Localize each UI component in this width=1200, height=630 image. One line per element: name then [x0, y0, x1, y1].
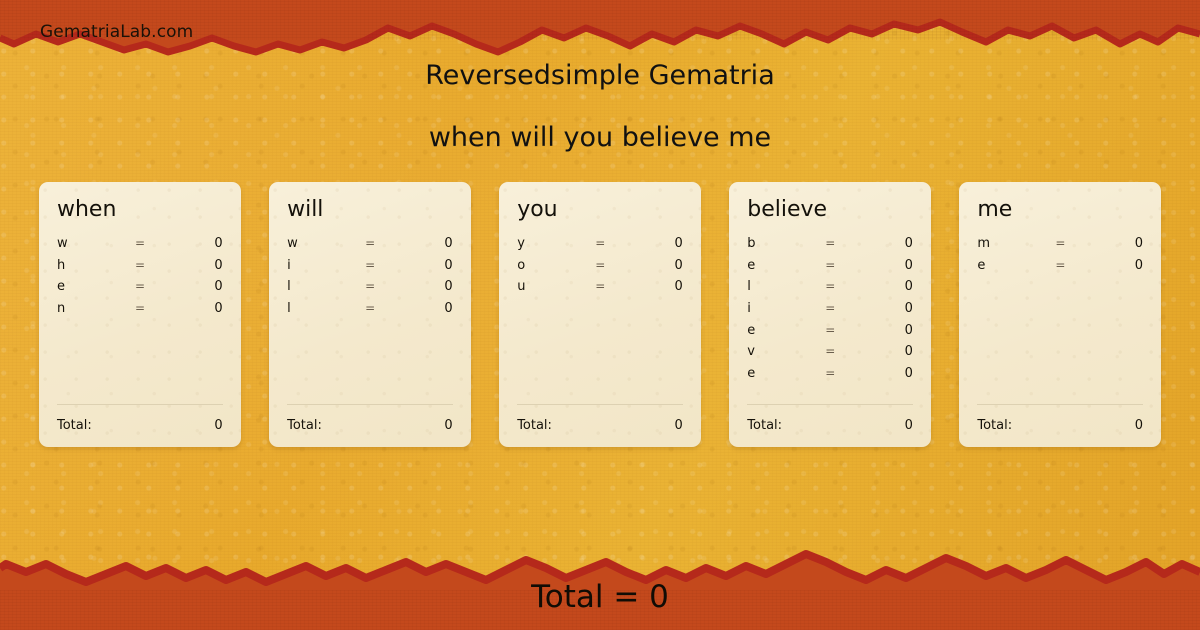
- equals-sign: =: [135, 301, 171, 315]
- letter-row: l=0: [747, 279, 913, 301]
- equals-sign: =: [825, 258, 861, 272]
- equals-sign: =: [365, 258, 401, 272]
- letter-row: u=0: [517, 279, 683, 301]
- card-total-row: Total:0: [57, 405, 223, 433]
- equals-sign: =: [595, 258, 631, 272]
- word-card: whenw=0h=0e=0n=0Total:0: [39, 182, 241, 447]
- letter-char: v: [747, 344, 825, 359]
- letter-char: u: [517, 279, 595, 294]
- letter-value: 0: [401, 236, 453, 251]
- letter-value: 0: [631, 279, 683, 294]
- letter-row: e=0: [57, 279, 223, 301]
- card-total-label: Total:: [977, 418, 1012, 433]
- card-total-value: 0: [905, 418, 913, 433]
- letter-row: l=0: [287, 279, 453, 301]
- equals-sign: =: [365, 301, 401, 315]
- card-total-row: Total:0: [747, 405, 913, 433]
- letter-value: 0: [861, 366, 913, 381]
- word-card-title: believe: [747, 198, 913, 222]
- letter-value-list: m=0e=0: [977, 236, 1143, 400]
- letter-char: i: [747, 301, 825, 316]
- equals-sign: =: [135, 236, 171, 250]
- letter-value-list: y=0o=0u=0: [517, 236, 683, 400]
- letter-row: v=0: [747, 344, 913, 366]
- page-title: Reversedsimple Gematria: [0, 60, 1200, 91]
- equals-sign: =: [365, 236, 401, 250]
- letter-char: h: [57, 258, 135, 273]
- letter-value: 0: [171, 301, 223, 316]
- word-card-title: you: [517, 198, 683, 222]
- letter-row: h=0: [57, 258, 223, 280]
- letter-char: e: [747, 366, 825, 381]
- letter-char: w: [287, 236, 365, 251]
- equals-sign: =: [825, 344, 861, 358]
- letter-char: l: [287, 279, 365, 294]
- letter-char: o: [517, 258, 595, 273]
- letter-row: l=0: [287, 301, 453, 323]
- letter-char: m: [977, 236, 1055, 251]
- letter-row: m=0: [977, 236, 1143, 258]
- letter-char: l: [747, 279, 825, 294]
- word-card: youy=0o=0u=0Total:0: [499, 182, 701, 447]
- equals-sign: =: [365, 279, 401, 293]
- letter-row: o=0: [517, 258, 683, 280]
- card-total-label: Total:: [517, 418, 552, 433]
- letter-value: 0: [861, 236, 913, 251]
- equals-sign: =: [595, 236, 631, 250]
- letter-row: i=0: [747, 301, 913, 323]
- equals-sign: =: [825, 236, 861, 250]
- site-logo[interactable]: GematriaLab.com: [40, 22, 193, 42]
- equals-sign: =: [825, 301, 861, 315]
- letter-row: n=0: [57, 301, 223, 323]
- equals-sign: =: [825, 279, 861, 293]
- word-card-title: me: [977, 198, 1143, 222]
- card-total-label: Total:: [747, 418, 782, 433]
- letter-value: 0: [861, 323, 913, 338]
- card-total-label: Total:: [287, 418, 322, 433]
- word-card: mem=0e=0Total:0: [959, 182, 1161, 447]
- letter-value: 0: [861, 279, 913, 294]
- word-card-title: when: [57, 198, 223, 222]
- letter-row: e=0: [747, 258, 913, 280]
- letter-value: 0: [861, 344, 913, 359]
- letter-value-list: w=0h=0e=0n=0: [57, 236, 223, 400]
- card-total-value: 0: [675, 418, 683, 433]
- letter-row: e=0: [747, 366, 913, 388]
- equals-sign: =: [825, 323, 861, 337]
- equals-sign: =: [135, 258, 171, 272]
- letter-char: n: [57, 301, 135, 316]
- letter-row: i=0: [287, 258, 453, 280]
- word-card-list: whenw=0h=0e=0n=0Total:0willw=0i=0l=0l=0T…: [39, 182, 1161, 447]
- grand-total: Total = 0: [0, 579, 1200, 615]
- letter-char: l: [287, 301, 365, 316]
- letter-row: w=0: [57, 236, 223, 258]
- card-total-row: Total:0: [517, 405, 683, 433]
- letter-value: 0: [401, 258, 453, 273]
- card-total-row: Total:0: [287, 405, 453, 433]
- equals-sign: =: [595, 279, 631, 293]
- letter-value: 0: [631, 236, 683, 251]
- equals-sign: =: [1055, 258, 1091, 272]
- letter-char: e: [977, 258, 1055, 273]
- letter-value: 0: [1091, 236, 1143, 251]
- card-total-row: Total:0: [977, 405, 1143, 433]
- letter-value: 0: [861, 301, 913, 316]
- phrase-heading: when will you believe me: [0, 122, 1200, 153]
- card-total-value: 0: [1135, 418, 1143, 433]
- card-total-value: 0: [444, 418, 452, 433]
- letter-value: 0: [401, 279, 453, 294]
- card-total-value: 0: [214, 418, 222, 433]
- letter-char: i: [287, 258, 365, 273]
- letter-char: w: [57, 236, 135, 251]
- letter-row: w=0: [287, 236, 453, 258]
- letter-row: e=0: [747, 323, 913, 345]
- word-card: believeb=0e=0l=0i=0e=0v=0e=0Total:0: [729, 182, 931, 447]
- letter-char: e: [747, 323, 825, 338]
- letter-value: 0: [1091, 258, 1143, 273]
- letter-row: b=0: [747, 236, 913, 258]
- letter-row: y=0: [517, 236, 683, 258]
- letter-char: e: [57, 279, 135, 294]
- letter-value: 0: [631, 258, 683, 273]
- card-total-label: Total:: [57, 418, 92, 433]
- letter-value: 0: [171, 279, 223, 294]
- equals-sign: =: [825, 366, 861, 380]
- letter-char: b: [747, 236, 825, 251]
- word-card-title: will: [287, 198, 453, 222]
- equals-sign: =: [135, 279, 171, 293]
- letter-value: 0: [861, 258, 913, 273]
- letter-value: 0: [171, 258, 223, 273]
- letter-row: e=0: [977, 258, 1143, 280]
- letter-value-list: b=0e=0l=0i=0e=0v=0e=0: [747, 236, 913, 400]
- letter-value: 0: [171, 236, 223, 251]
- word-card: willw=0i=0l=0l=0Total:0: [269, 182, 471, 447]
- equals-sign: =: [1055, 236, 1091, 250]
- letter-value: 0: [401, 301, 453, 316]
- letter-char: e: [747, 258, 825, 273]
- letter-char: y: [517, 236, 595, 251]
- letter-value-list: w=0i=0l=0l=0: [287, 236, 453, 400]
